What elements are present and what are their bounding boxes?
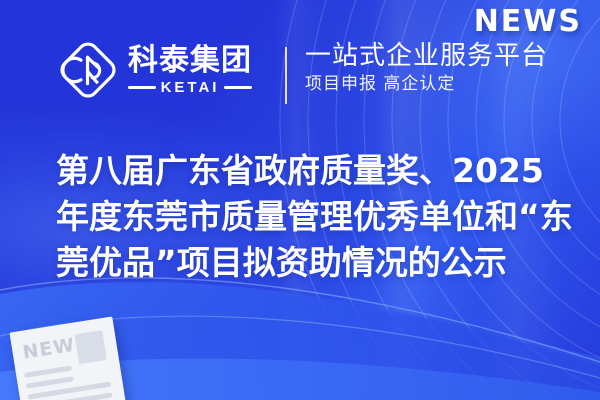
page-title: 第八届广东省政府质量奖、2025年度东莞市质量管理优秀单位和“东莞优品”项目拟资… bbox=[56, 148, 576, 286]
header-tagline: 一站式企业服务平台 项目申报 高企认定 bbox=[305, 42, 548, 95]
ketai-kp-diamond-logo-icon bbox=[58, 40, 118, 100]
wordmark-rule-right bbox=[224, 86, 252, 89]
header-divider bbox=[285, 47, 287, 104]
tagline-primary: 一站式企业服务平台 bbox=[305, 42, 548, 71]
tagline-secondary: 项目申报 高企认定 bbox=[305, 75, 548, 95]
brand-name-cn: 科泰集团 bbox=[128, 46, 252, 76]
news-label: NEWS bbox=[474, 4, 582, 39]
news-banner: 科泰集团 KETAI 一站式企业服务平台 项目申报 高企认定 NEWS 第八届广… bbox=[0, 0, 600, 400]
wordmark-rule-left bbox=[128, 86, 156, 89]
banner-header: 科泰集团 KETAI 一站式企业服务平台 项目申报 高企认定 NEWS bbox=[0, 0, 600, 130]
brand-logo[interactable]: 科泰集团 KETAI bbox=[58, 40, 252, 100]
brand-name-en: KETAI bbox=[161, 80, 220, 95]
news-paper-icon: NEWS bbox=[7, 314, 129, 400]
brand-wordmark: 科泰集团 KETAI bbox=[128, 46, 252, 95]
brand-name-en-row: KETAI bbox=[128, 80, 252, 95]
